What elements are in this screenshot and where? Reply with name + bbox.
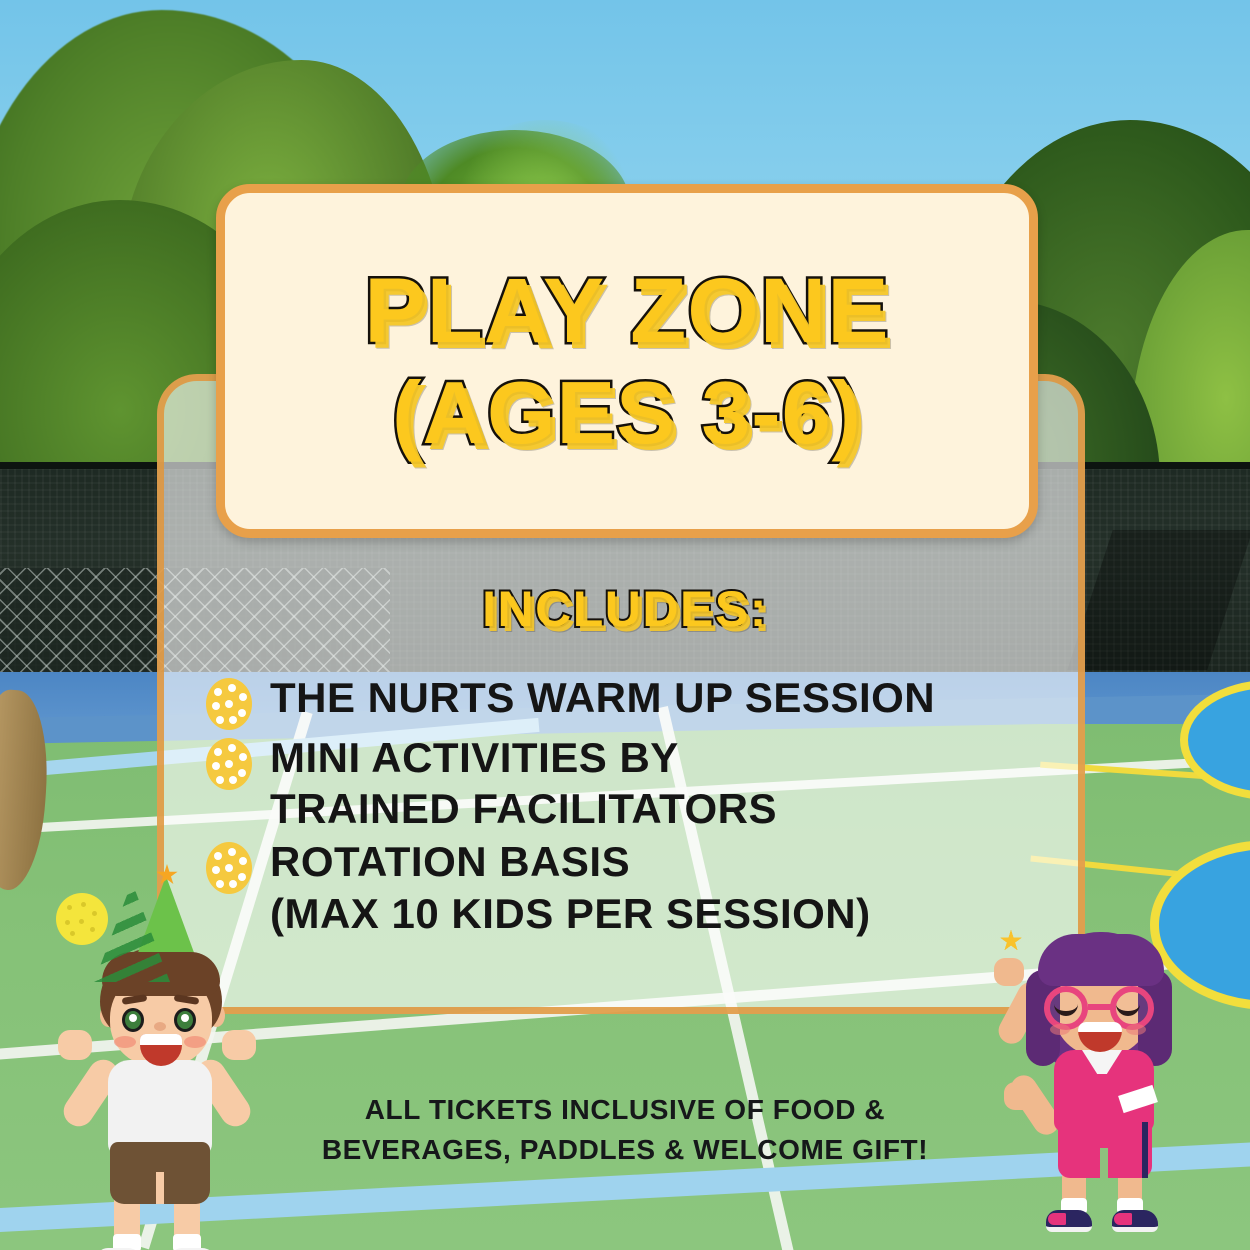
girl-shoe-right: [1112, 1210, 1158, 1232]
list-item-label: THE NURTS WARM UP SESSION: [270, 672, 1006, 723]
list-item-label: MINI ACTIVITIES BY: [270, 732, 1006, 783]
girl-hand-raised: [994, 958, 1024, 986]
girl-cheek-left: [1050, 1024, 1070, 1035]
list-item: THE NURTS WARM UP SESSION: [206, 672, 1006, 730]
boy-nose: [154, 1022, 166, 1031]
includes-heading: INCLUDES:: [0, 580, 1250, 638]
girl-with-star-glasses-illustration: [1000, 930, 1200, 1220]
title-card: PLAY ZONE (AGES 3-6): [216, 184, 1038, 538]
list-item-label-continued: (MAX 10 KIDS PER SESSION): [270, 888, 1006, 939]
pickleball-icon: [206, 678, 252, 730]
page-title-line-2: (AGES 3-6): [392, 369, 862, 457]
poster-canvas: PLAY ZONE (AGES 3-6) INCLUDES: THE NURTS…: [0, 0, 1250, 1250]
includes-list: THE NURTS WARM UP SESSION MINI ACTIVITIE…: [206, 672, 1006, 941]
boy-hand-left: [58, 1030, 92, 1060]
boy-hand-right: [222, 1030, 256, 1060]
girl-cheek-right: [1126, 1024, 1146, 1035]
glasses-bridge: [1088, 1004, 1112, 1010]
star-icon: [1000, 930, 1022, 952]
girl-hand-out: [1004, 1082, 1034, 1110]
boy-with-party-hat-illustration: [52, 878, 262, 1208]
list-item-label: ROTATION BASIS: [270, 836, 1006, 887]
page-title-line-1: PLAY ZONE: [364, 265, 889, 357]
boy-cheek-right: [184, 1036, 206, 1048]
girl-shorts-stripe: [1142, 1122, 1148, 1178]
boy-cheek-left: [114, 1036, 136, 1048]
girl-fringe: [1038, 934, 1164, 986]
boy-eye-right: [174, 1008, 196, 1032]
girl-shoe-left: [1046, 1210, 1092, 1232]
boy-eye-left: [122, 1008, 144, 1032]
pickleball-icon: [206, 738, 252, 790]
list-item: ROTATION BASIS (MAX 10 KIDS PER SESSION): [206, 836, 1006, 938]
girl-shorts: [1058, 1122, 1152, 1178]
boy-shorts: [110, 1142, 210, 1204]
list-item: MINI ACTIVITIES BY TRAINED FACILITATORS: [206, 732, 1006, 834]
list-item-label-continued: TRAINED FACILITATORS: [270, 783, 1006, 834]
